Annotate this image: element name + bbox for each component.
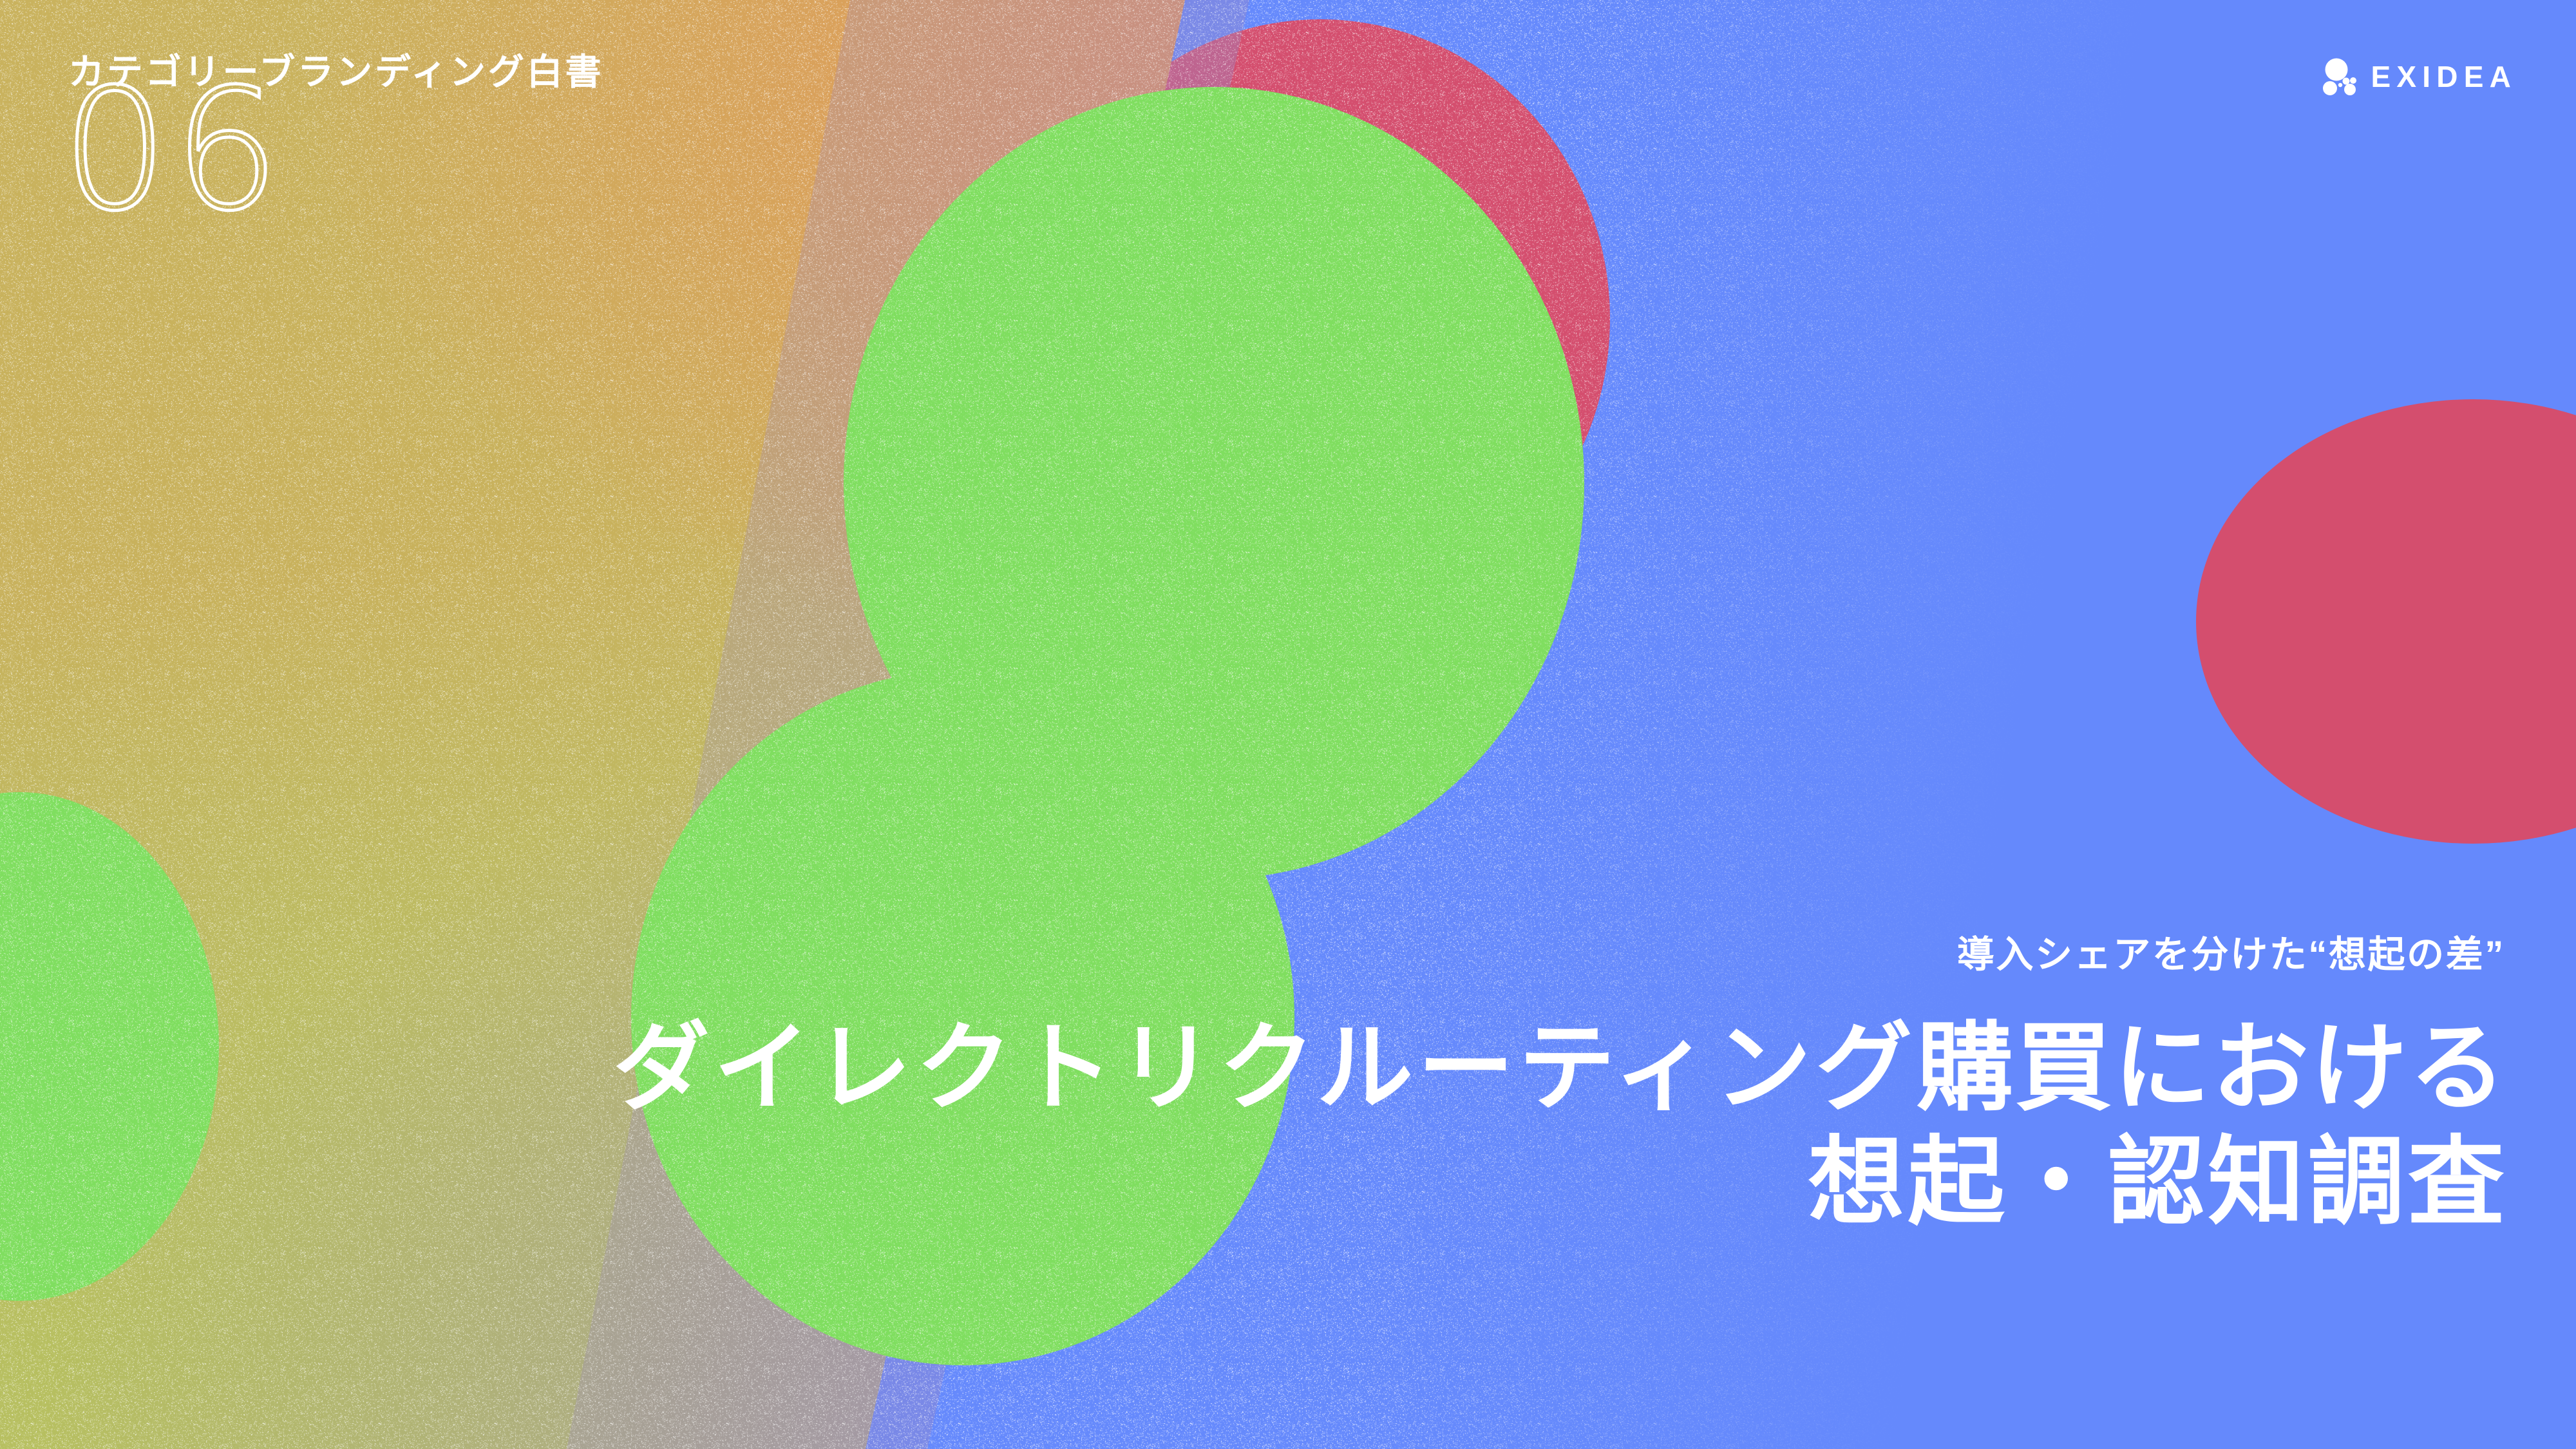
kicker-label: 導入シェアを分けた“想起の差” [1957,924,2505,978]
headline-block: ダイレクトリクルーティング購買における 想起・認知調査 [0,1011,2508,1239]
headline-line-1-katakana: ダイレクトリクルーティング [613,1014,1917,1122]
cover-canvas: カテゴリーブランディング白書 06 導入シェアを分けた“想起の差” ダイレクトリ… [0,0,2576,1449]
brand-logo[interactable]: EXIDEA [2321,54,2517,99]
headline-line-2: 想起・認知調査 [0,1125,2508,1239]
issue-number: 06 [62,67,285,234]
exidea-circles-mark [2321,58,2362,95]
headline-line-1: ダイレクトリクルーティング購買における [0,1011,2508,1125]
headline-line-1-kanji: 購買における [1917,1014,2508,1122]
logo-wordmark: EXIDEA [2371,62,2517,91]
